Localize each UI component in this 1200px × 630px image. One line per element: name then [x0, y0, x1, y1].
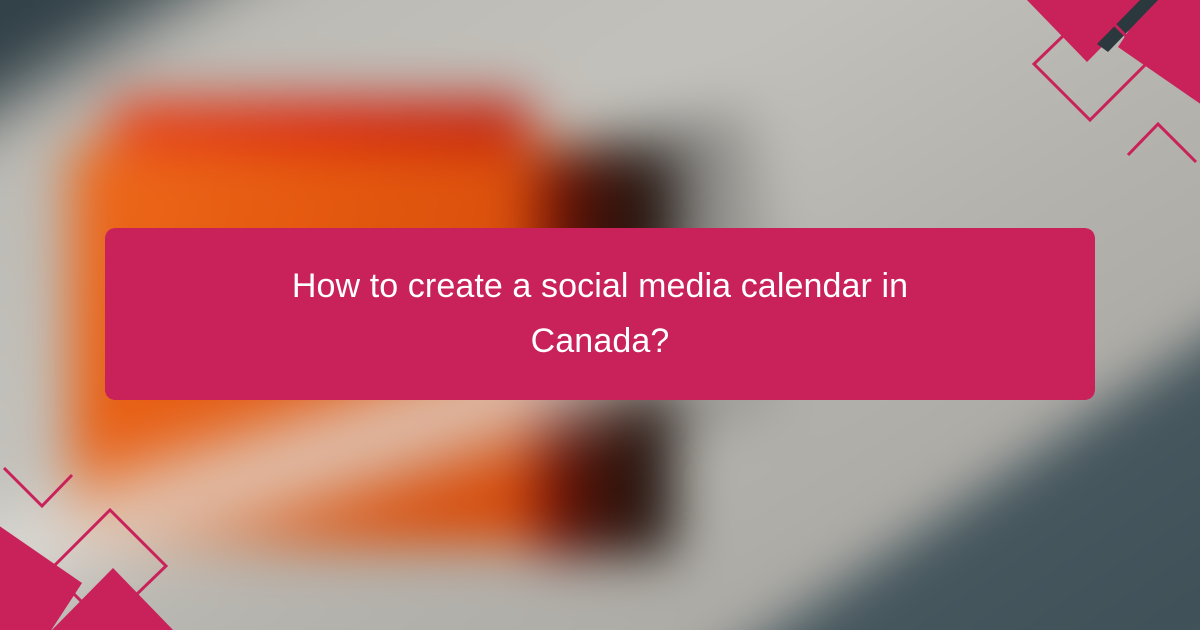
title-ribbon: How to create a social media calendar in… [103, 226, 1097, 402]
ribbon-text-area: How to create a social media calendar in… [103, 226, 1097, 402]
page-title: How to create a social media calendar in… [250, 259, 950, 369]
share-card-canvas: How to create a social media calendar in… [0, 0, 1200, 630]
